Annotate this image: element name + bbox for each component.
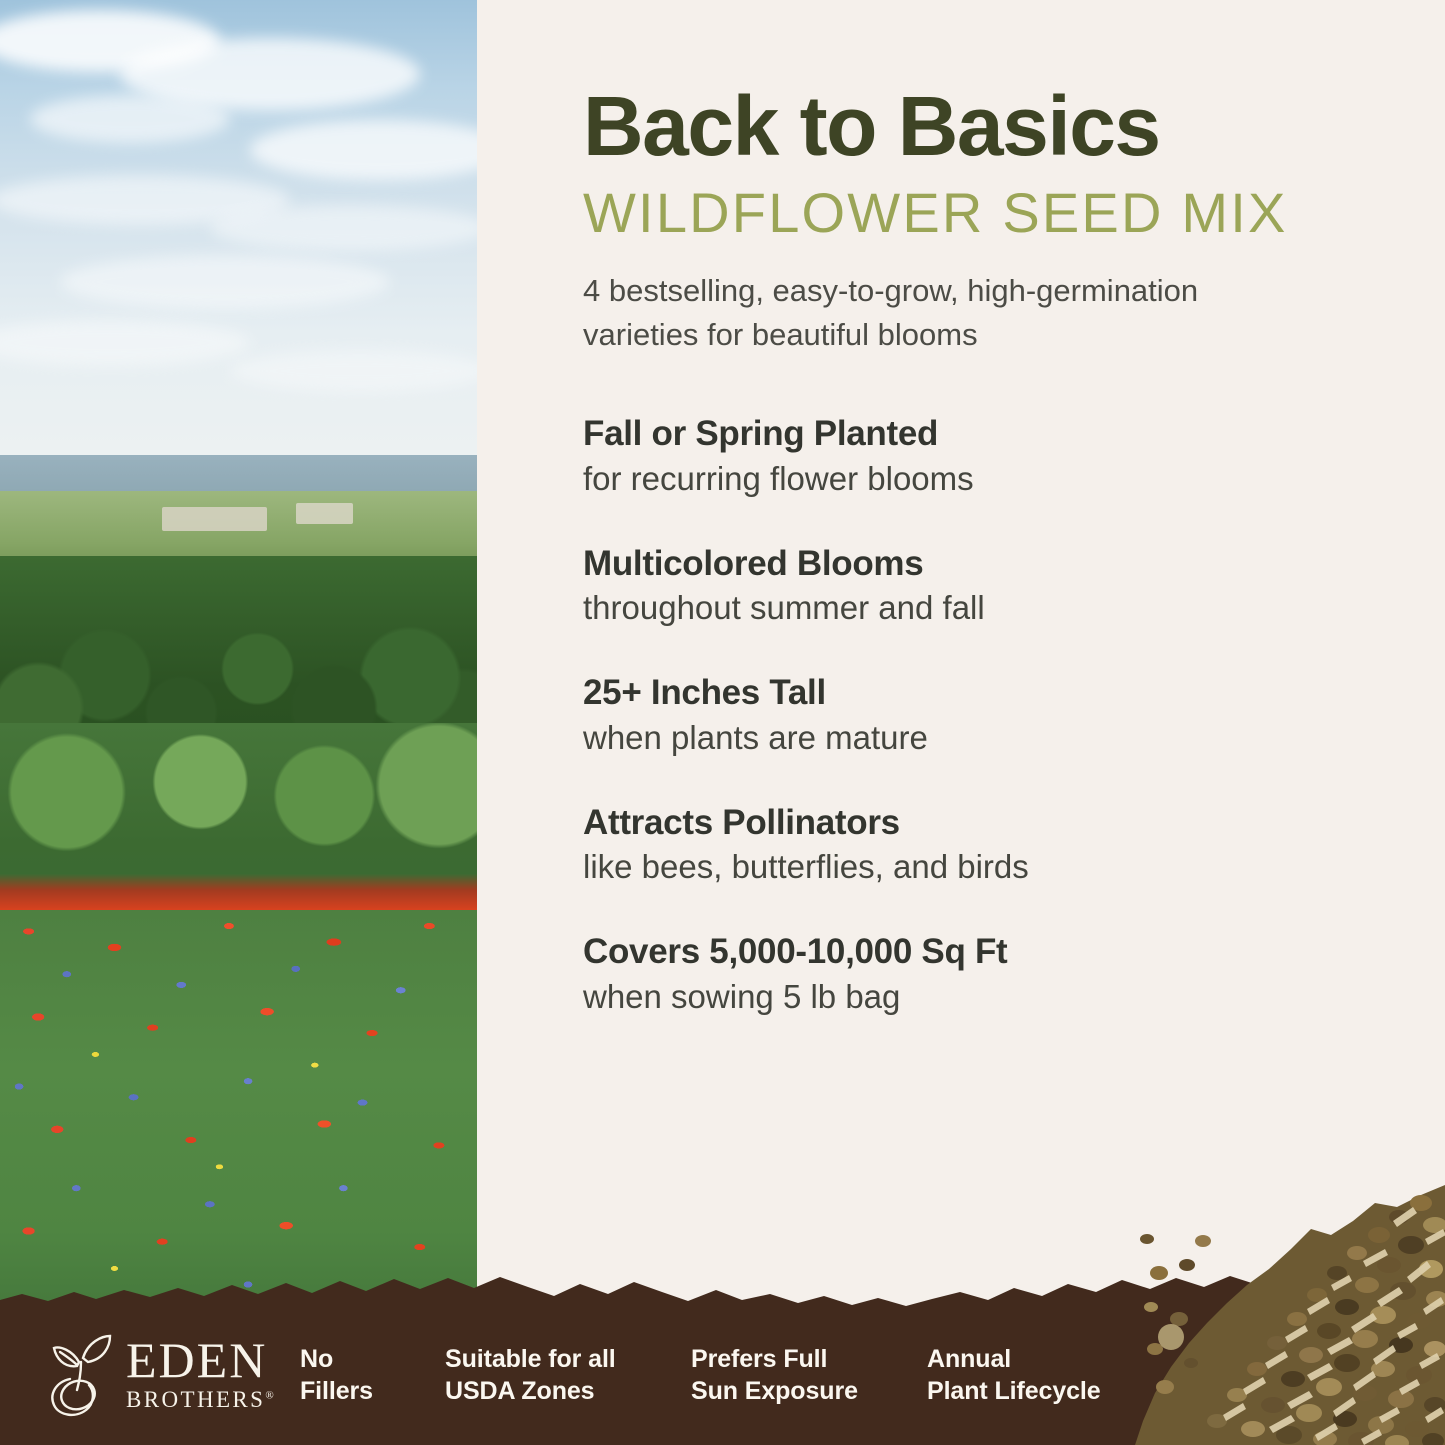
logo-brothers-text: BROTHERS® <box>126 1386 276 1415</box>
badge-no-fillers: No Fillers <box>300 1343 445 1407</box>
feature-item: 25+ Inches Tall when plants are mature <box>583 672 1383 758</box>
eden-brothers-logo[interactable]: EDEN BROTHERS® <box>48 1332 278 1418</box>
badge-sun-exposure: Prefers Full Sun Exposure <box>691 1343 927 1407</box>
feature-title: Multicolored Blooms <box>583 543 1383 584</box>
logo-eden-text: EDEN <box>126 1336 276 1384</box>
feature-subtitle: like bees, butterflies, and birds <box>583 847 1383 887</box>
feature-item: Multicolored Blooms throughout summer an… <box>583 543 1383 629</box>
feature-item: Attracts Pollinators like bees, butterfl… <box>583 802 1383 888</box>
cloud-icon <box>60 255 390 309</box>
badge-line-1: Suitable for all <box>445 1343 691 1375</box>
footer-badge-list: No Fillers Suitable for all USDA Zones P… <box>300 1343 1157 1407</box>
seedling-sprout-icon <box>48 1332 114 1418</box>
feature-title: Covers 5,000-10,000 Sq Ft <box>583 931 1383 972</box>
feature-subtitle: when sowing 5 lb bag <box>583 977 1383 1017</box>
feature-item: Covers 5,000-10,000 Sq Ft when sowing 5 … <box>583 931 1383 1017</box>
feature-title: Fall or Spring Planted <box>583 413 1383 454</box>
feature-list: Fall or Spring Planted for recurring flo… <box>583 413 1383 1017</box>
badge-line-1: Annual <box>927 1343 1157 1375</box>
light-treeline <box>0 723 477 896</box>
cloud-icon <box>230 350 477 392</box>
logo-wordmark: EDEN BROTHERS® <box>126 1336 276 1415</box>
content-column: Back to Basics WILDFLOWER SEED MIX 4 bes… <box>583 0 1383 1061</box>
badge-line-1: Prefers Full <box>691 1343 927 1375</box>
product-infographic: Back to Basics WILDFLOWER SEED MIX 4 bes… <box>0 0 1445 1445</box>
feature-item: Fall or Spring Planted for recurring flo… <box>583 413 1383 499</box>
feature-subtitle: throughout summer and fall <box>583 588 1383 628</box>
badge-usda-zones: Suitable for all USDA Zones <box>445 1343 691 1407</box>
footer-bar: EDEN BROTHERS® No Fillers Suitable for a… <box>0 1305 1445 1445</box>
badge-line-2: Plant Lifecycle <box>927 1375 1157 1407</box>
cloud-icon <box>0 320 250 366</box>
feature-title: 25+ Inches Tall <box>583 672 1383 713</box>
wildflower-meadow-photo <box>0 0 477 1445</box>
badge-line-2: Fillers <box>300 1375 445 1407</box>
registered-mark-icon: ® <box>265 1389 276 1401</box>
badge-plant-lifecycle: Annual Plant Lifecycle <box>927 1343 1157 1407</box>
page-title: Back to Basics <box>583 84 1383 170</box>
cloud-icon <box>250 120 477 180</box>
page-subtitle: WILDFLOWER SEED MIX <box>583 182 1383 244</box>
badge-line-2: Sun Exposure <box>691 1375 927 1407</box>
page-lede: 4 bestselling, easy-to-grow, high-germin… <box>583 269 1313 357</box>
feature-subtitle: for recurring flower blooms <box>583 459 1383 499</box>
feature-subtitle: when plants are mature <box>583 718 1383 758</box>
badge-line-2: USDA Zones <box>445 1375 691 1407</box>
cloud-icon <box>30 95 230 143</box>
sky-region <box>0 0 477 491</box>
feature-title: Attracts Pollinators <box>583 802 1383 843</box>
cloud-icon <box>210 205 477 251</box>
badge-line-1: No <box>300 1343 445 1375</box>
